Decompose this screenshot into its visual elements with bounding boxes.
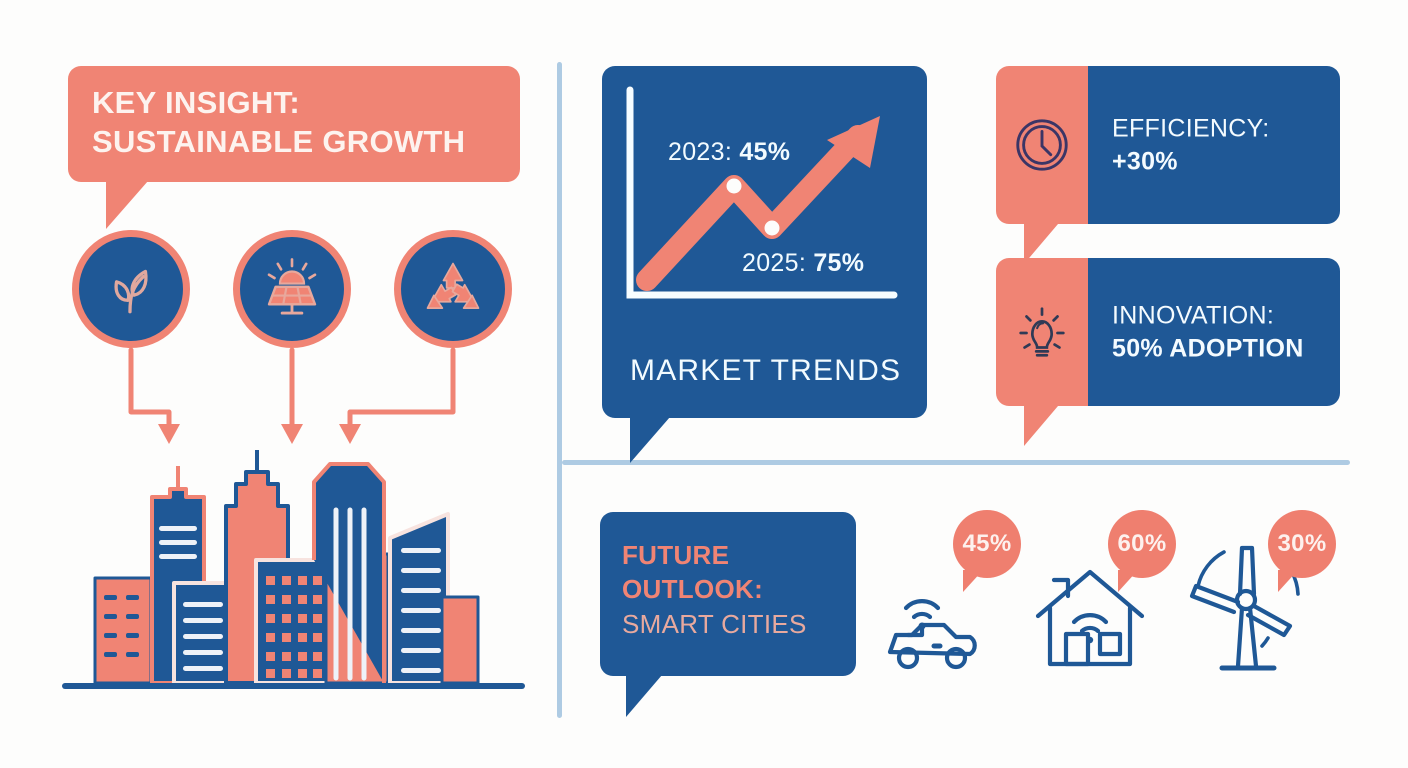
key-insight-line1: KEY INSIGHT: (92, 85, 300, 120)
chart-label-2023-year: 2023: (668, 138, 739, 166)
pillar-leaf[interactable] (72, 230, 190, 348)
future-outlook-text: FUTURE OUTLOOK: SMART CITIES (622, 538, 852, 641)
vertical-divider (557, 62, 562, 718)
infographic-canvas: KEY INSIGHT: SUSTAINABLE GROWTH (0, 0, 1408, 768)
key-insight-text: KEY INSIGHT: SUSTAINABLE GROWTH (92, 84, 512, 162)
stat-text-panel-efficiency: EFFICIENCY: +30% (1088, 66, 1340, 224)
market-trends-card-tail (630, 417, 670, 463)
future-outlook-line3: SMART CITIES (622, 607, 852, 641)
clock-icon (1011, 114, 1073, 176)
solar-panel-icon (257, 254, 327, 324)
leaf-icon (98, 256, 164, 322)
chart-label-2023: 2023: 45% (668, 138, 790, 167)
percent-bubble-tail-car (963, 570, 983, 592)
stat-text-panel-innovation: INNOVATION: 50% ADOPTION (1088, 258, 1340, 406)
lightbulb-icon (1011, 301, 1073, 363)
stat-card-tail-innovation (1024, 406, 1058, 446)
stat-value-efficiency: +30% (1112, 145, 1270, 178)
pillar-connectors (60, 340, 530, 460)
stat-label-efficiency: EFFICIENCY: (1112, 115, 1270, 143)
chart-label-2025-value: 75% (813, 249, 864, 277)
key-insight-line2: SUSTAINABLE GROWTH (92, 124, 465, 159)
percent-bubble-car: 45% (953, 510, 1021, 578)
connected-car-icon (878, 580, 1006, 676)
chart-label-2023-value: 45% (739, 138, 790, 166)
future-outlook-line2: OUTLOOK: (622, 572, 852, 606)
stat-value-innovation: 50% ADOPTION (1112, 332, 1304, 365)
pillar-solar[interactable] (233, 230, 351, 348)
percent-bubble-home: 60% (1108, 510, 1176, 578)
future-outlook-card-tail (626, 675, 662, 717)
stat-text-innovation: INNOVATION: 50% ADOPTION (1112, 300, 1304, 365)
market-trends-title: MARKET TRENDS (630, 354, 901, 388)
chart-label-2025-year: 2025: (742, 249, 813, 277)
chart-label-2025: 2025: 75% (742, 249, 864, 278)
stat-label-innovation: INNOVATION: (1112, 302, 1274, 330)
future-outlook-line1: FUTURE (622, 538, 852, 572)
stat-card-innovation: INNOVATION: 50% ADOPTION (996, 258, 1340, 406)
stat-icon-panel-efficiency (996, 66, 1088, 224)
stat-text-efficiency: EFFICIENCY: +30% (1112, 113, 1270, 178)
percent-value-home: 60% (1118, 530, 1167, 558)
percent-value-turbine: 30% (1278, 530, 1327, 558)
stat-card-efficiency: EFFICIENCY: +30% (996, 66, 1340, 224)
recycle-icon (419, 255, 487, 323)
percent-bubble-turbine: 30% (1268, 510, 1336, 578)
market-trends-chart (612, 80, 917, 325)
key-insight-card-tail (106, 181, 148, 229)
pillar-recycle[interactable] (394, 230, 512, 348)
percent-bubble-tail-home (1118, 570, 1138, 592)
horizontal-divider (562, 460, 1350, 465)
stat-icon-panel-innovation (996, 258, 1088, 406)
percent-bubble-tail-turbine (1278, 570, 1298, 592)
cityscape-illustration (60, 450, 530, 700)
percent-value-car: 45% (963, 530, 1012, 558)
